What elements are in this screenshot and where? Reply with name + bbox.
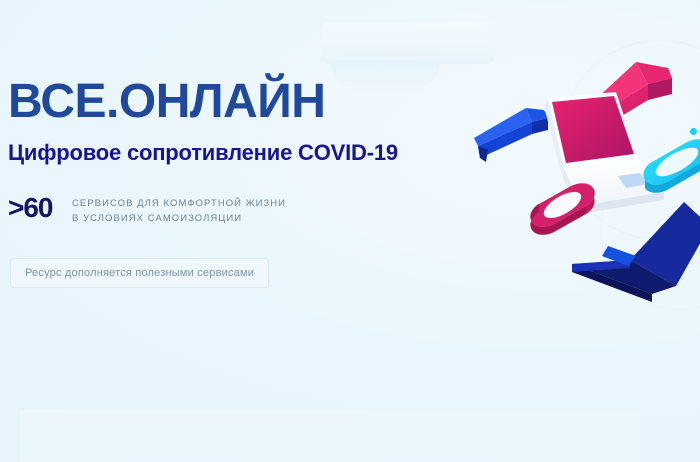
services-count: >60 bbox=[8, 194, 72, 222]
page-title: ВСЕ.ОНЛАЙН bbox=[8, 76, 448, 128]
navy-laptop-closed-icon bbox=[572, 202, 700, 302]
hero-copy: ВСЕ.ОНЛАЙН Цифровое сопротивление COVID-… bbox=[8, 76, 448, 226]
hero-illustration bbox=[440, 50, 700, 310]
blue-digit-one-icon bbox=[474, 108, 548, 162]
resource-update-badge: Ресурс дополняется полезными сервисами bbox=[10, 258, 269, 288]
hero-section: ВСЕ.ОНЛАЙН Цифровое сопротивление COVID-… bbox=[0, 0, 700, 462]
services-caption-line-2: В УСЛОВИЯХ САМОИЗОЛЯЦИИ bbox=[72, 211, 286, 226]
page-subtitle: Цифровое сопротивление COVID-19 bbox=[8, 140, 448, 166]
cyan-dot-icon bbox=[690, 128, 697, 135]
background-watermark-strip bbox=[20, 410, 640, 462]
crimson-digit-zero-icon bbox=[530, 183, 594, 235]
cyan-digit-zero-icon bbox=[643, 139, 700, 193]
services-caption: СЕРВИСОВ ДЛЯ КОМФОРТНОЙ ЖИЗНИ В УСЛОВИЯХ… bbox=[72, 194, 286, 226]
services-caption-line-1: СЕРВИСОВ ДЛЯ КОМФОРТНОЙ ЖИЗНИ bbox=[72, 196, 286, 211]
stats-block: >60 СЕРВИСОВ ДЛЯ КОМФОРТНОЙ ЖИЗНИ В УСЛО… bbox=[8, 194, 448, 226]
